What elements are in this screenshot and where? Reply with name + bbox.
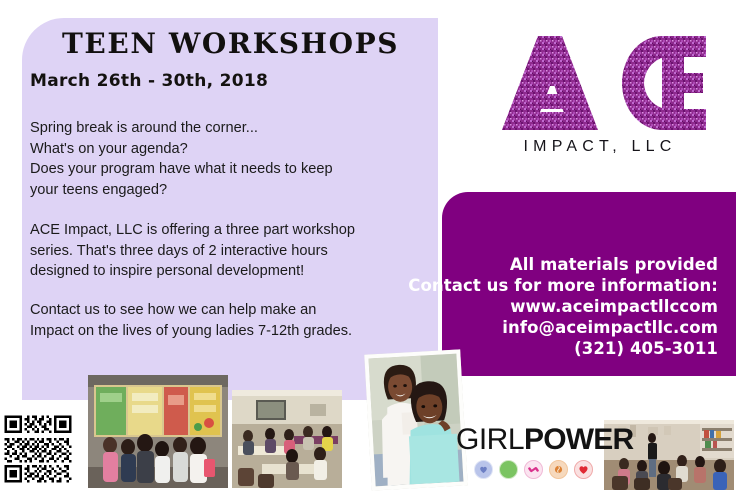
intro-line: Spring break is around the corner...: [30, 118, 333, 139]
contact-prompt: Contact us for more information:: [408, 275, 718, 296]
photo-meeting-room: [232, 390, 342, 488]
intro-line: your teens engaged?: [30, 180, 333, 201]
energy-dot-icon: [549, 460, 568, 479]
qr-code[interactable]: [2, 412, 74, 486]
girlpower-girl-text: GIRL: [456, 423, 524, 456]
heart-dot-icon: [574, 460, 593, 479]
girlpower-logo: GIRLPOWER: [456, 424, 604, 486]
heart-glyph: [578, 464, 589, 475]
nutrition-dot-icon: [499, 460, 518, 479]
dumbbell-glyph: [528, 464, 539, 475]
intro-line: What's on your agenda?: [30, 139, 333, 160]
girlpower-power-text: POWER: [524, 423, 633, 456]
intro-paragraph: Spring break is around the corner... Wha…: [30, 118, 333, 200]
ace-logo-mark: [494, 30, 706, 134]
offer-line: series. That's three days of 2 interacti…: [30, 241, 355, 262]
photo-classroom-left: [88, 375, 228, 488]
mind-heart-glyph: [479, 465, 488, 474]
photo-two-girls: [364, 349, 467, 490]
contact-lines: All materials provided Contact us for mo…: [408, 254, 718, 359]
ace-impact-logo: IMPACT, LLC: [494, 30, 706, 170]
workshop-date-range: March 26th - 30th, 2018: [30, 71, 268, 91]
mind-dot-icon: [474, 460, 493, 479]
photo-meeting-room-art: [232, 390, 342, 488]
offer-line: designed to inspire personal development…: [30, 261, 355, 282]
materials-note: All materials provided: [408, 254, 718, 275]
energy-glyph: [554, 465, 563, 474]
ace-logo-subtitle: IMPACT, LLC: [498, 138, 702, 156]
photo-classroom-left-art: [88, 375, 228, 488]
email-link[interactable]: info@aceimpactllc.com: [408, 317, 718, 338]
website-link[interactable]: www.aceimpactllccom: [408, 296, 718, 317]
call-to-action-paragraph: Contact us to see how we can help make a…: [30, 300, 352, 341]
page-title: TEEN WORKSHOPS: [62, 29, 399, 59]
offer-paragraph: ACE Impact, LLC is offering a three part…: [30, 220, 355, 282]
cta-line: Impact on the lives of young ladies 7-12…: [30, 321, 352, 342]
contact-info-block: All materials provided Contact us for mo…: [442, 192, 736, 376]
offer-line: ACE Impact, LLC is offering a three part…: [30, 220, 355, 241]
fitness-dot-icon: [524, 460, 543, 479]
intro-line: Does your program have what it needs to …: [30, 159, 333, 180]
photo-two-girls-art: [368, 354, 463, 487]
girlpower-icon-row: [474, 460, 593, 479]
girlpower-wordmark: GIRLPOWER: [456, 424, 633, 456]
cta-line: Contact us to see how we can help make a…: [30, 300, 352, 321]
